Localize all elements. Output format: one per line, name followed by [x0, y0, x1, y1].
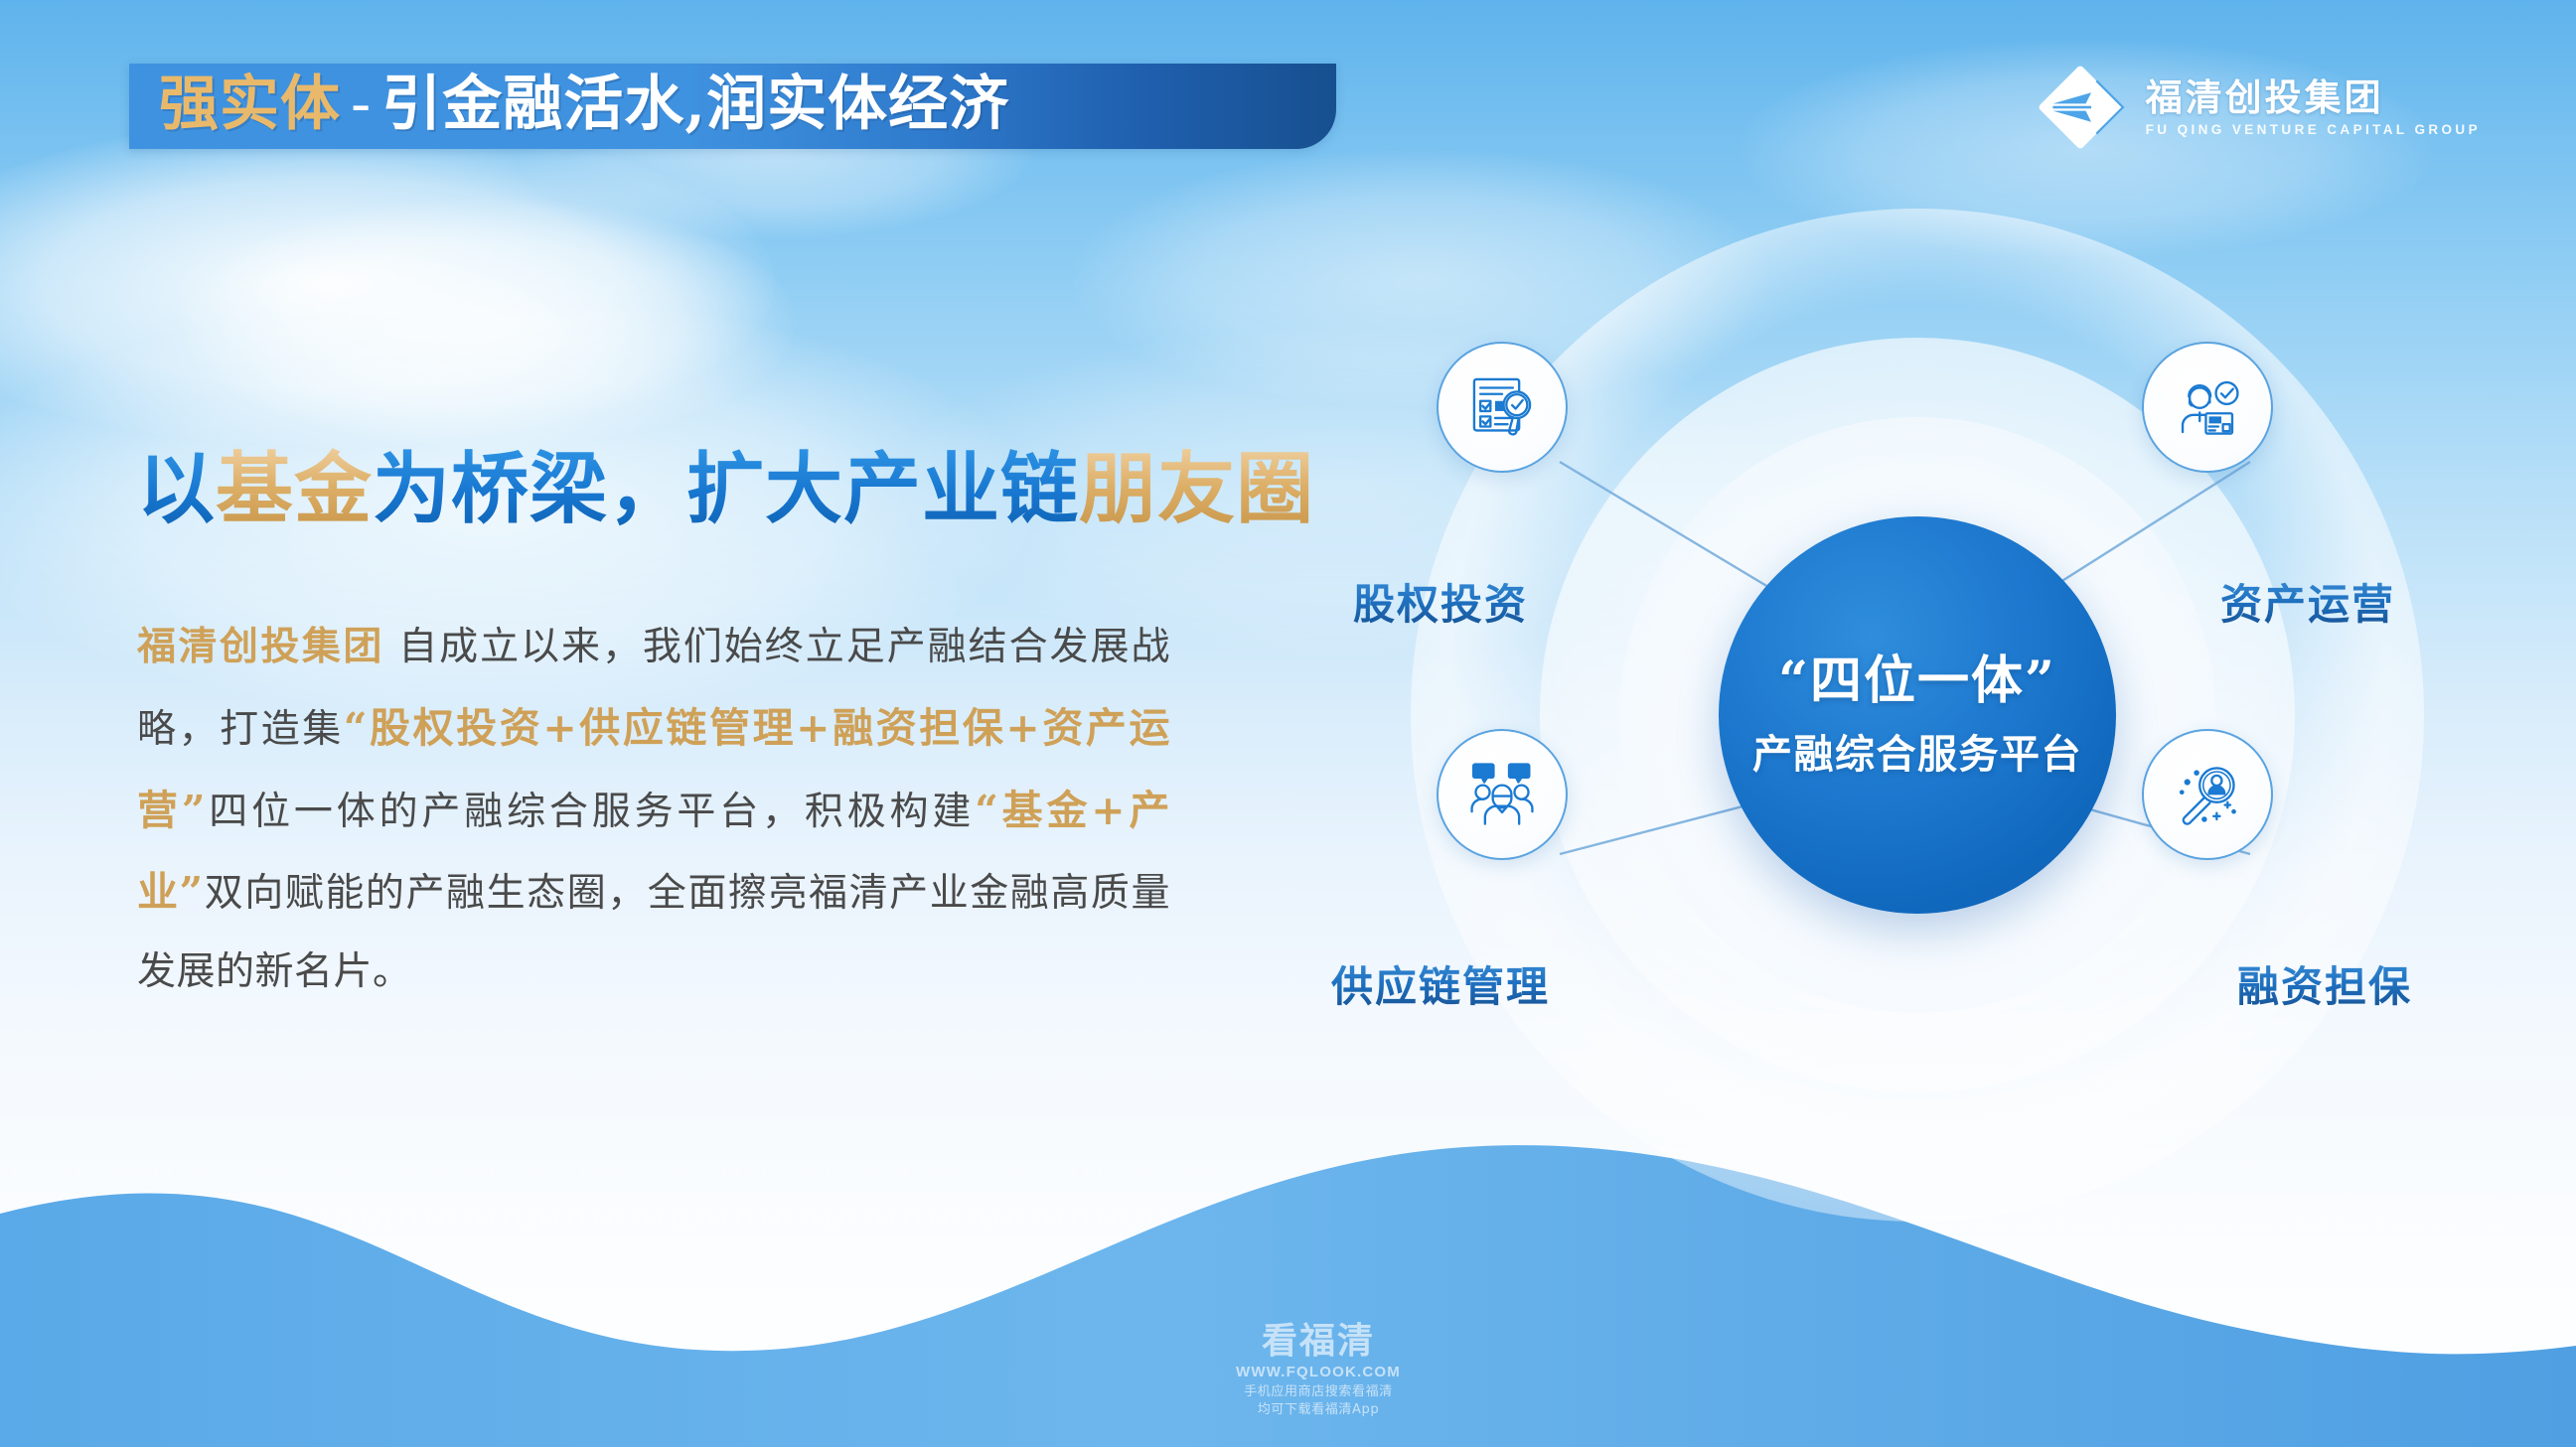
node-asset-operation[interactable]: [2142, 342, 2273, 473]
slide-canvas: 强实体-引金融活水,润实体经济 福清创投集团 F: [0, 0, 2576, 1447]
node-label-financing-guarantee: 融资担保: [2237, 953, 2412, 1014]
logo-company-name-en: FU QING VENTURE CAPITAL GROUP: [2146, 122, 2481, 137]
core-title: “四位一体”: [1778, 651, 2056, 712]
node-label-equity-investment: 股权投资: [1353, 571, 1528, 632]
company-logo: 福清创投集团 FU QING VENTURE CAPITAL GROUP: [2035, 62, 2481, 153]
document-checklist-magnifier-icon: [1463, 368, 1541, 446]
node-label-asset-operation: 资产运营: [2220, 571, 2395, 632]
people-chat-bubbles-icon: [1463, 756, 1541, 833]
banner-title-gold: 强实体: [159, 70, 341, 139]
banner-title-dash: -: [341, 70, 381, 139]
headline-seg-2: 基金: [216, 444, 373, 534]
headline-seg-5: 朋友圈: [1079, 444, 1314, 534]
header-banner: 强实体-引金融活水,润实体经济: [129, 64, 1336, 149]
headline-seg-4: 扩大产业链: [686, 444, 1079, 534]
banner-title: 强实体-引金融活水,润实体经济: [159, 74, 1009, 134]
headline-seg-1: 以: [137, 444, 216, 534]
node-equity-investment[interactable]: [1437, 342, 1568, 473]
arrow-diamond-logo-icon: [2035, 62, 2126, 153]
logo-company-name-cn: 福清创投集团: [2146, 77, 2481, 118]
paragraph-brand-name: 福清创投集团: [137, 624, 384, 669]
page-headline: 以基金为桥梁，扩大产业链朋友圈: [137, 449, 1314, 531]
logo-text-block: 福清创投集团 FU QING VENTURE CAPITAL GROUP: [2146, 77, 2481, 137]
node-supply-chain[interactable]: [1437, 729, 1568, 860]
headline-seg-3: 为桥梁，: [373, 444, 686, 534]
paragraph-text-2: 四位一体的产融综合服务平台，积极构建: [206, 790, 975, 834]
four-in-one-diagram: “四位一体” 产融综合服务平台: [1371, 159, 2464, 1271]
core-subtitle: 产融综合服务平台: [1752, 722, 2082, 780]
agent-headset-check-document-icon: [2169, 368, 2246, 446]
magnifier-person-sparkle-icon: [2169, 756, 2246, 833]
body-paragraph: 福清创投集团 自成立以来，我们始终立足产融结合发展战略，打造集“股权投资+供应链…: [137, 608, 1170, 1012]
diagram-core: “四位一体” 产融综合服务平台: [1719, 516, 2116, 914]
node-label-supply-chain: 供应链管理: [1331, 953, 1550, 1014]
paragraph-text-3: 双向赋能的产融生态圈，全面擦亮福清产业金融高质量发展的新名片。: [137, 871, 1170, 994]
node-financing-guarantee[interactable]: [2142, 729, 2273, 860]
banner-title-white: 引金融活水,润实体经济: [381, 70, 1009, 139]
